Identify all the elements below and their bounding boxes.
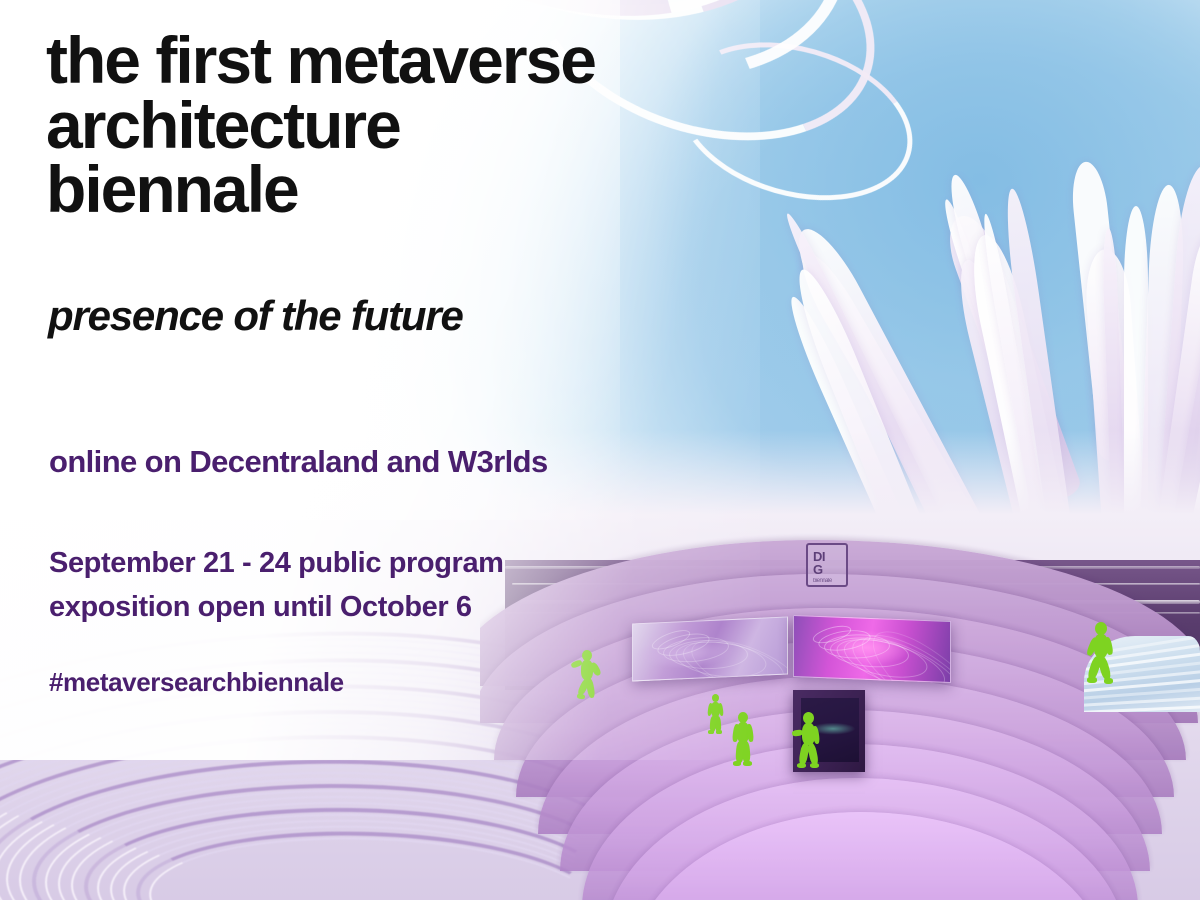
poster-hashtag: #metaversearchbiennale [49,667,344,698]
date-line-program: September 21 - 24 public program [49,541,504,585]
dates-block: September 21 - 24 public program exposit… [49,541,504,629]
poster-text-content: the first metaverse architecture biennal… [0,0,1200,900]
poster-canvas: DI G biennale the first metaverse archit… [0,0,1200,900]
poster-headline: the first metaverse architecture biennal… [46,28,595,222]
date-line-exposition: exposition open until October 6 [49,585,504,629]
platforms-line: online on Decentraland and W3rlds [49,444,548,480]
poster-subtitle: presence of the future [48,292,463,340]
